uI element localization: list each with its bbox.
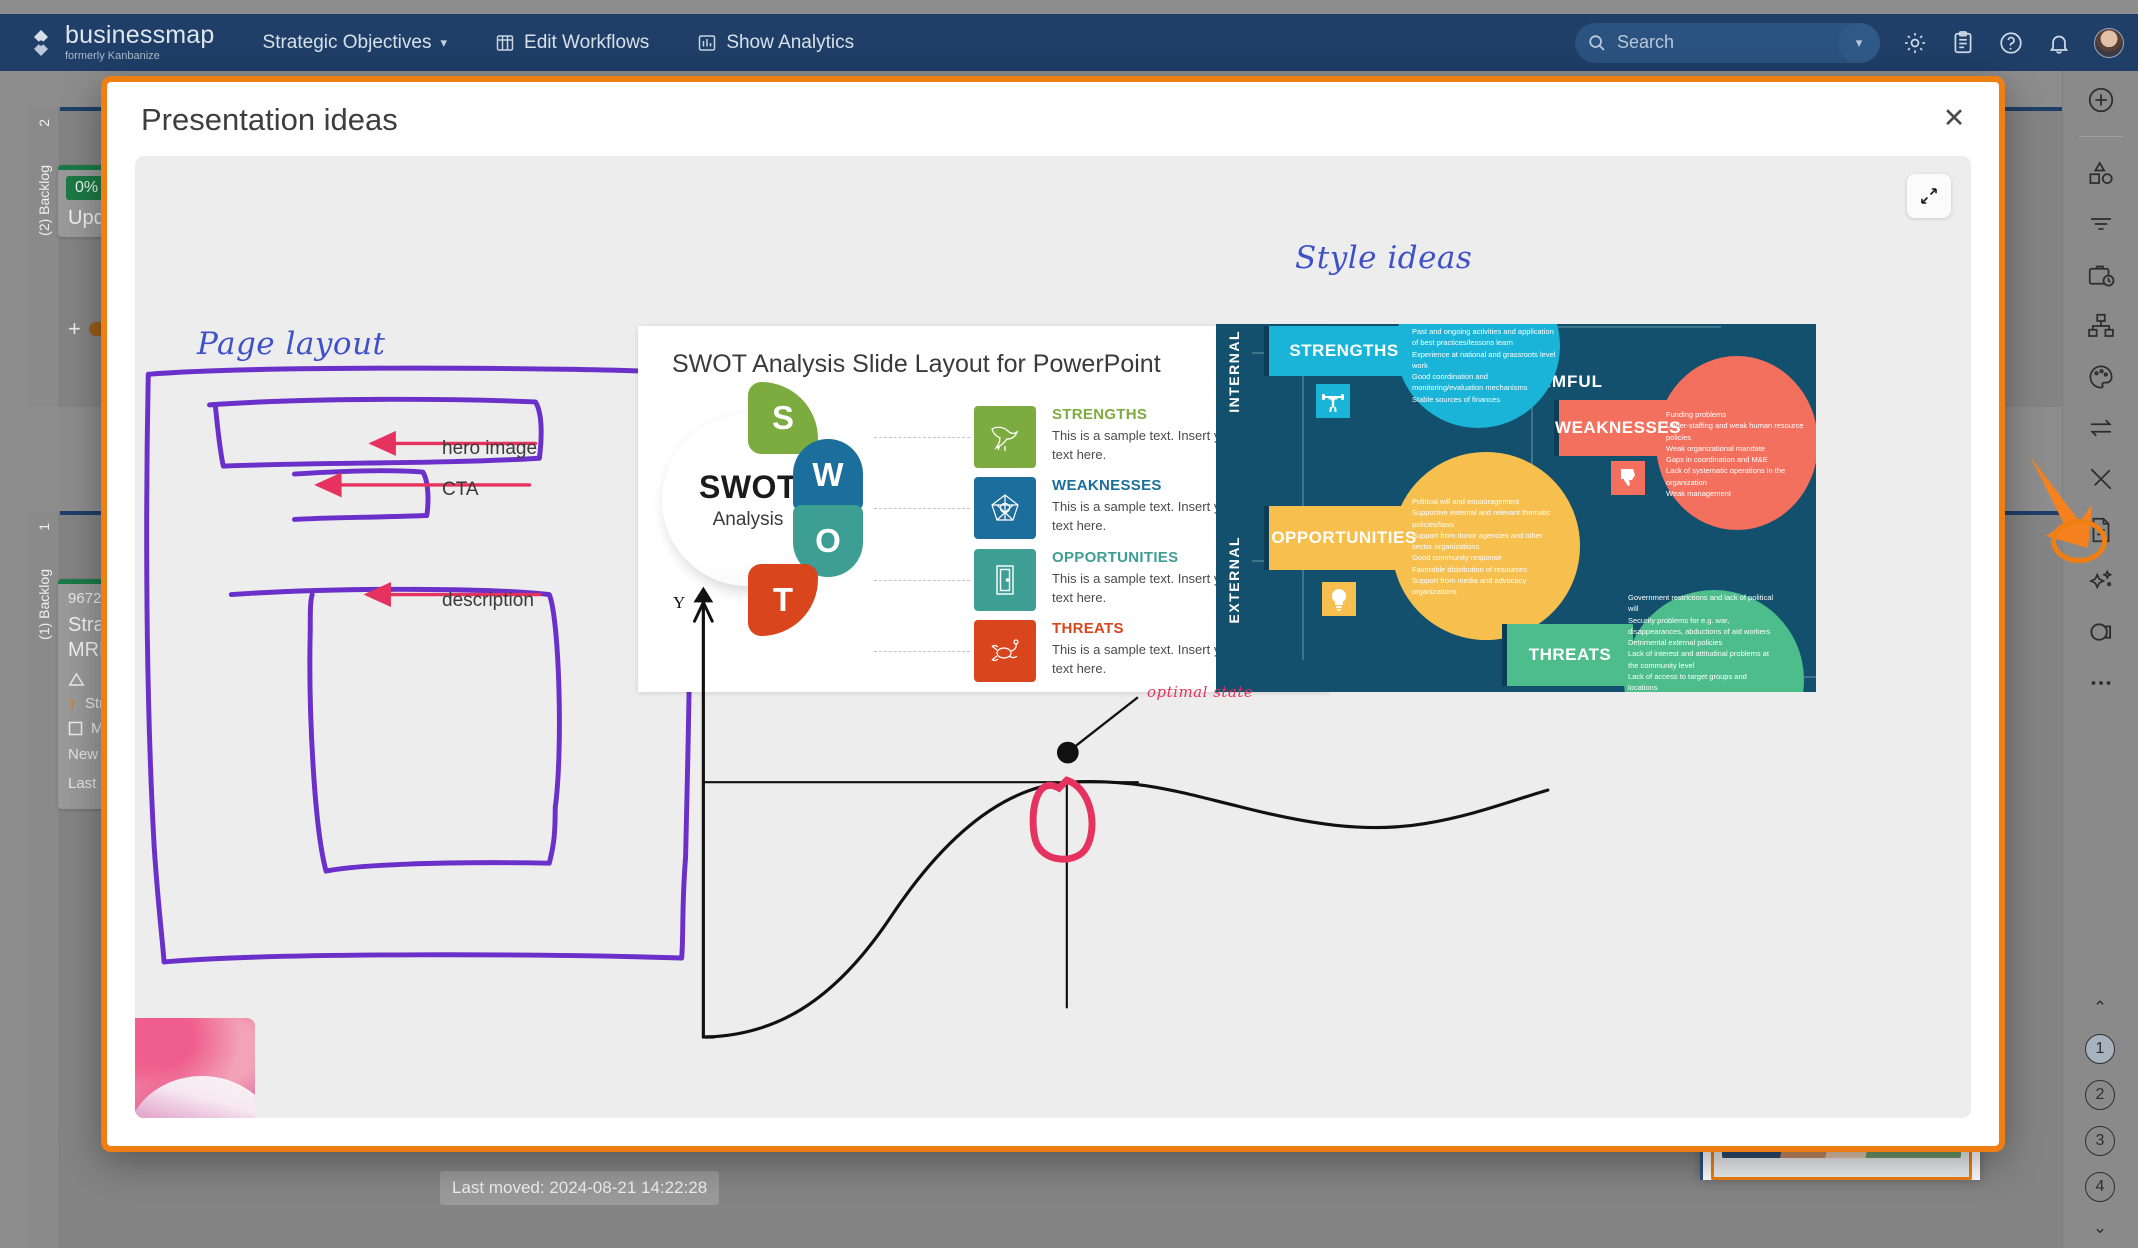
rail-divider (2079, 136, 2123, 137)
swot-heading: SWOT Analysis Slide Layout for PowerPoin… (672, 350, 1161, 379)
last-moved-text: Last moved: 2024-08-21 14:22:28 (440, 1171, 719, 1205)
businessmap-logo-icon (26, 28, 56, 58)
page-button-4[interactable]: 4 (2085, 1172, 2115, 1202)
swot-infographic-image[interactable]: INTERNAL EXTERNAL HARMFUL STRENGTHS Past… (1216, 324, 1816, 692)
connector-line (874, 437, 970, 438)
presentation-ideas-dialog: Presentation ideas ✕ Page layout Style i… (101, 76, 2005, 1152)
swot-center-sub: Analysis (713, 509, 784, 531)
chevron-down-icon: ▾ (440, 35, 447, 51)
scroll-up-icon[interactable]: ⌃ (2093, 998, 2107, 1018)
scorpion-icon (974, 620, 1036, 682)
highlight-ring-annotation (2051, 519, 2107, 563)
whiteboard-icon[interactable] (2086, 617, 2116, 647)
search-icon (1587, 33, 1607, 53)
infographic-chip-weaknesses: WEAKNESSES (1559, 400, 1677, 456)
swimlane-name: (1) Backlog (36, 569, 52, 640)
swimlane-header: 1 (1) Backlog (28, 511, 60, 1248)
chart-point-marker (1057, 742, 1079, 764)
page-button-2[interactable]: 2 (2085, 1080, 2115, 1110)
search-placeholder: Search (1617, 32, 1674, 53)
avatar[interactable] (2094, 28, 2124, 58)
annotation-hero-image: hero image (442, 438, 537, 460)
infographic-chip-strengths: STRENGTHS (1269, 326, 1419, 376)
top-bar-right-group: Search ▾ (1575, 14, 2124, 71)
search-input[interactable]: Search ▾ (1575, 23, 1880, 63)
bell-icon[interactable] (2046, 30, 2072, 56)
chart-y-axis-label: Y (673, 593, 685, 613)
swimlane-name: (2) Backlog (36, 165, 52, 236)
briefcase-clock-icon[interactable] (2086, 260, 2116, 290)
page-title: Presentation ideas (141, 102, 398, 138)
hierarchy-icon[interactable] (2086, 311, 2116, 341)
scroll-down-icon[interactable]: ⌄ (2093, 1218, 2107, 1238)
connector-line (874, 508, 970, 509)
flower-photo-thumbnail[interactable] (135, 1018, 255, 1118)
screen: businessmap formerly Kanbanize Strategic… (0, 0, 2138, 1248)
triangle-icon (68, 672, 85, 687)
door-icon (974, 549, 1036, 611)
handwritten-page-layout-label: Page layout (197, 326, 386, 362)
grid-line (1549, 326, 1721, 328)
swot-category: THREATS (1052, 620, 1124, 637)
photo-petal-overlay (135, 1076, 255, 1118)
dialog-header: Presentation ideas ✕ (107, 82, 1999, 156)
annotation-cta: CTA (442, 479, 479, 501)
swot-category: STRENGTHS (1052, 406, 1147, 423)
expand-icon[interactable] (1907, 174, 1951, 218)
infographic-label-external: EXTERNAL (1226, 536, 1242, 623)
swimlane-number: 2 (36, 119, 52, 127)
swap-icon[interactable] (2086, 413, 2116, 443)
connector-line (874, 651, 970, 652)
infographic-bullets-threats: Government restrictions and lack of poli… (1628, 592, 1778, 692)
handwritten-optimal-state-label: optimal state (1147, 683, 1253, 701)
swot-petal-w: W (793, 439, 863, 511)
palette-icon[interactable] (2086, 362, 2116, 392)
swot-center-title: SWOT (699, 469, 797, 506)
swimlane-number: 1 (36, 523, 52, 531)
swot-category: OPPORTUNITIES (1052, 549, 1178, 566)
workflow-icon (495, 33, 515, 53)
thumbs-down-icon (1609, 459, 1647, 497)
swot-category: WEAKNESSES (1052, 477, 1162, 494)
whiteboard-canvas[interactable]: Page layout Style ideas (135, 156, 1971, 1118)
top-navigation-bar: businessmap formerly Kanbanize Strategic… (0, 14, 2138, 71)
swot-petal-s: S (748, 382, 818, 454)
analytics-icon (697, 33, 717, 53)
connector-line (874, 580, 970, 581)
page-button-1[interactable]: 1 (2085, 1034, 2115, 1064)
clipboard-icon[interactable] (1950, 30, 1976, 56)
plus-circle-icon[interactable] (2086, 85, 2116, 115)
gear-icon[interactable] (1902, 30, 1928, 56)
infographic-chip-threats: THREATS (1507, 624, 1633, 686)
more-icon[interactable] (2086, 668, 2116, 698)
infographic-bullets-strengths: Past and ongoing activities and applicat… (1412, 326, 1556, 405)
compass-icon (974, 477, 1036, 539)
brand-subtitle: formerly Kanbanize (65, 51, 215, 62)
lightbulb-icon (1320, 580, 1358, 618)
annotation-description: description (442, 590, 534, 612)
infographic-chip-opportunities: OPPORTUNITIES (1269, 506, 1419, 570)
swot-petal-t: T (748, 564, 818, 636)
checkbox-icon[interactable] (68, 721, 83, 736)
nav-show-analytics[interactable]: Show Analytics (697, 32, 854, 54)
nav-edit-workflows[interactable]: Edit Workflows (495, 32, 649, 54)
close-icon[interactable]: ✕ (1937, 101, 1971, 135)
brand-name: businessmap (65, 23, 215, 48)
weightlifter-icon (1314, 382, 1352, 420)
nav-label: Strategic Objectives (263, 32, 432, 54)
page-button-3[interactable]: 3 (2085, 1126, 2115, 1156)
page-navigation-group: ⌃ 1 2 3 4 ⌄ (2062, 998, 2138, 1238)
nav-label: Edit Workflows (524, 32, 649, 54)
infographic-bullets-weaknesses: Funding problems Under-staffing and weak… (1666, 409, 1808, 499)
sparkle-icon[interactable] (2086, 566, 2116, 596)
handwritten-style-ideas-label: Style ideas (1295, 240, 1472, 276)
nav-label: Show Analytics (726, 32, 854, 54)
filter-icon[interactable] (2086, 209, 2116, 239)
swimlane-header: 2 (2) Backlog (28, 107, 60, 407)
brand-logo[interactable]: businessmap formerly Kanbanize (26, 23, 215, 62)
plus-icon[interactable]: + (68, 316, 81, 342)
infographic-label-internal: INTERNAL (1226, 330, 1242, 413)
help-icon[interactable] (1998, 30, 2024, 56)
search-scope-chevron-icon[interactable]: ▾ (1838, 23, 1880, 63)
shapes-icon[interactable] (2086, 158, 2116, 188)
bird-icon (974, 406, 1036, 468)
nav-strategic-objectives[interactable]: Strategic Objectives ▾ (263, 32, 448, 54)
infographic-bullets-opportunities: Political will and encouragement Support… (1412, 496, 1552, 597)
arrow-up-icon: ↑ (68, 693, 77, 714)
